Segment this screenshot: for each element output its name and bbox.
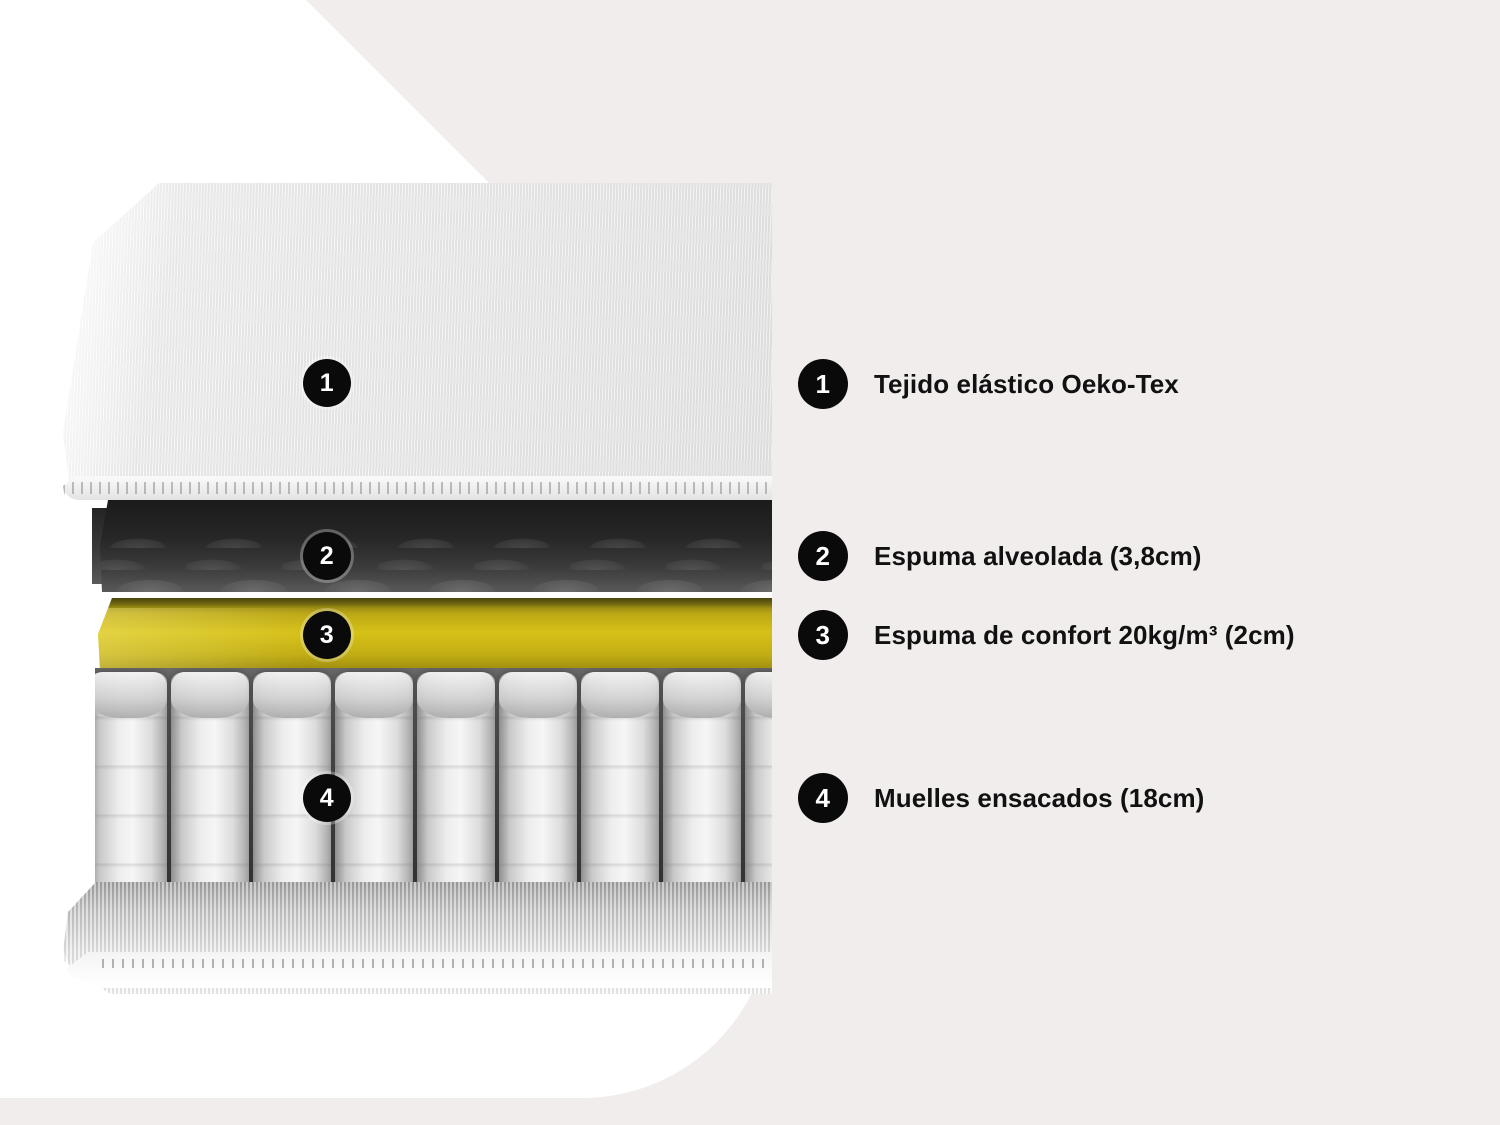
callout-badge-1[interactable]: 1 [303,359,351,407]
legend-label-3: Espuma de confort 20kg/m³ (2cm) [874,620,1295,651]
legend-list: 1 Tejido elástico Oeko-Tex 2 Espuma alve… [798,0,1438,1125]
legend-label-4: Muelles ensacados (18cm) [874,783,1204,814]
mattress-layer-tejido-elastico [63,183,772,495]
mattress-layer-muelles-ensacados [95,668,772,900]
pocket-spring [417,672,495,900]
pocket-spring [663,672,741,900]
mattress-layer-espuma-confort [98,598,772,670]
callout-badge-4[interactable]: 4 [303,774,351,822]
legend-badge-3: 3 [798,610,848,660]
pocket-spring [745,672,772,900]
pocket-spring [95,672,167,900]
pocket-spring [581,672,659,900]
legend-item-espuma-alveolada[interactable]: 2 Espuma alveolada (3,8cm) [798,531,1202,581]
legend-item-espuma-confort[interactable]: 3 Espuma de confort 20kg/m³ (2cm) [798,610,1295,660]
legend-item-tejido-elastico[interactable]: 1 Tejido elástico Oeko-Tex [798,359,1179,409]
legend-label-2: Espuma alveolada (3,8cm) [874,541,1202,572]
mattress-cutaway-illustration: 1 2 3 4 [0,0,772,1098]
legend-badge-1: 1 [798,359,848,409]
mattress-layer-espuma-alveolada [100,500,772,592]
pocket-spring [171,672,249,900]
callout-badge-2[interactable]: 2 [303,532,351,580]
infographic-stage: 1 2 3 4 1 Tejido elástico Oeko-Tex 2 Esp… [0,0,1500,1125]
legend-badge-2: 2 [798,531,848,581]
callout-badge-3[interactable]: 3 [303,611,351,659]
pocket-spring [499,672,577,900]
legend-label-1: Tejido elástico Oeko-Tex [874,369,1179,400]
foam-wave-crest [90,564,772,592]
mattress-cover-piping [63,476,772,500]
legend-badge-4: 4 [798,773,848,823]
mattress-base-piping [62,952,772,988]
legend-item-muelles-ensacados[interactable]: 4 Muelles ensacados (18cm) [798,773,1204,823]
